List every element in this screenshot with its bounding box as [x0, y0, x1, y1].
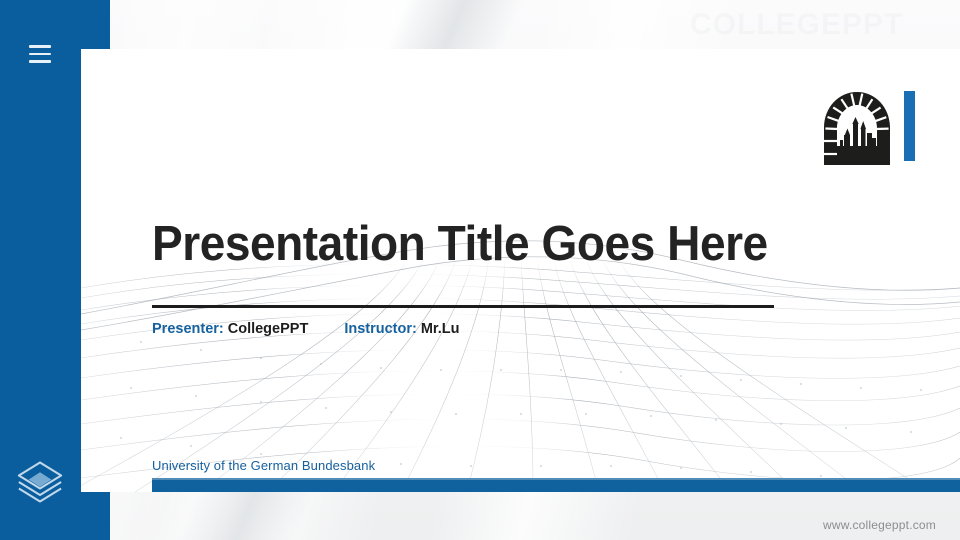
slide-title: Presentation Title Goes Here: [152, 219, 866, 271]
organization-name: University of the German Bundesbank: [152, 458, 375, 473]
arch-mark-icon: [820, 88, 894, 165]
hamburger-menu-icon[interactable]: [29, 45, 51, 63]
credit-instructor-value: Mr.Lu: [421, 321, 460, 337]
hamburger-line: [29, 53, 51, 56]
university-arch-skyline-logo: [820, 88, 918, 165]
credit-presenter-label: Presenter:: [152, 321, 224, 337]
slide-accent-bar: [152, 478, 960, 492]
presentation-viewer: COLLEGEPPT: [0, 0, 960, 540]
layers-stack-icon[interactable]: [14, 456, 66, 508]
slide-credits: Presenter:CollegePPT Instructor:Mr.Lu: [152, 321, 459, 337]
credit-instructor-label: Instructor:: [344, 321, 417, 337]
credit-presenter-value: CollegePPT: [228, 321, 309, 337]
background-watermark: COLLEGEPPT: [690, 8, 903, 42]
logo-accent-bar: [904, 91, 915, 161]
slide-canvas[interactable]: Presentation Title Goes Here Presenter:C…: [81, 49, 960, 492]
title-divider: [152, 305, 774, 308]
credit-presenter: Presenter:CollegePPT: [152, 321, 308, 337]
footer-website-url[interactable]: www.collegeppt.com: [823, 518, 936, 532]
hamburger-line: [29, 60, 51, 63]
credit-instructor: Instructor:Mr.Lu: [344, 321, 459, 337]
hamburger-line: [29, 45, 51, 48]
